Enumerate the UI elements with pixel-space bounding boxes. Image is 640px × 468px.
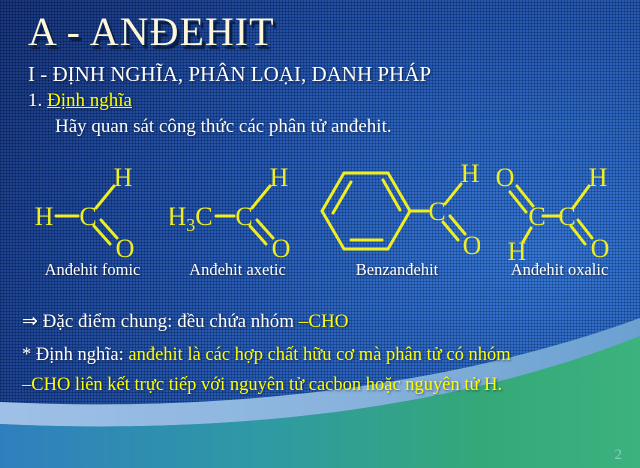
page-title: A - ANĐEHIT — [28, 8, 275, 55]
structure-caption-axetic: Anđehit axetic — [165, 260, 310, 280]
atom-label-H: H — [461, 159, 480, 188]
definition-text-1: anđehit là các hợp chất hữu cơ mà phân t… — [128, 345, 510, 365]
subsection-number: 1. — [28, 90, 47, 111]
atom-label-C-right: C — [558, 202, 575, 231]
slide-canvas: A - ANĐEHIT I - ĐỊNH NGHĨA, PHÂN LOẠI, D… — [0, 0, 640, 468]
atom-label-O: O — [272, 234, 291, 258]
atom-label-H2: H — [114, 163, 133, 192]
definition-line-2: –CHO liên kết trực tiếp với nguyên tử ca… — [22, 375, 502, 396]
atom-label-O: O — [463, 231, 480, 260]
observe-instruction: Hãy quan sát công thức các phân tử anđeh… — [55, 116, 392, 138]
structure-caption-oxalic: Anđehit oxalic — [487, 260, 632, 280]
structure-andehit-oxalic: O C H C H O — [487, 158, 617, 263]
definition-label: * Định nghĩa: — [22, 345, 128, 365]
structure-caption-benzandehit: Benzanđehit — [327, 260, 467, 280]
atom-label-C: C — [235, 202, 252, 231]
conclusion-line: ⇒ Đặc điểm chung: đều chứa nhóm –CHO — [22, 310, 348, 333]
atom-label-O-right: O — [591, 234, 610, 263]
structure-andehit-fomic: H C H O — [30, 158, 160, 258]
structure-caption-fomic: Anđehit fomic — [20, 260, 165, 280]
atom-label-C: C — [79, 202, 96, 231]
atom-label-O: O — [116, 234, 135, 258]
atom-label-C-left: C — [528, 202, 545, 231]
atom-label-H: H — [35, 202, 54, 231]
conclusion-highlight: –CHO — [299, 311, 349, 332]
structure-andehit-axetic: H3C C H O — [170, 158, 310, 258]
atom-label-C: C — [428, 197, 445, 226]
atom-label-H: H — [270, 163, 289, 192]
atom-label-O-left: O — [496, 163, 515, 192]
atom-label-H-right: H — [589, 163, 608, 192]
atom-label-H3C: H3C — [170, 202, 213, 235]
structure-benzandehit: C H O — [310, 158, 480, 263]
section-heading: I - ĐỊNH NGHĨA, PHÂN LOẠI, DANH PHÁP — [28, 62, 431, 87]
definition-line-1: * Định nghĩa: anđehit là các hợp chất hữ… — [22, 345, 511, 366]
conclusion-prefix: ⇒ Đặc điểm chung: đều chứa nhóm — [22, 311, 299, 332]
page-number: 2 — [615, 447, 623, 464]
subsection-highlight: Định nghĩa — [47, 90, 132, 111]
subsection-heading: 1. Định nghĩa — [28, 90, 132, 112]
